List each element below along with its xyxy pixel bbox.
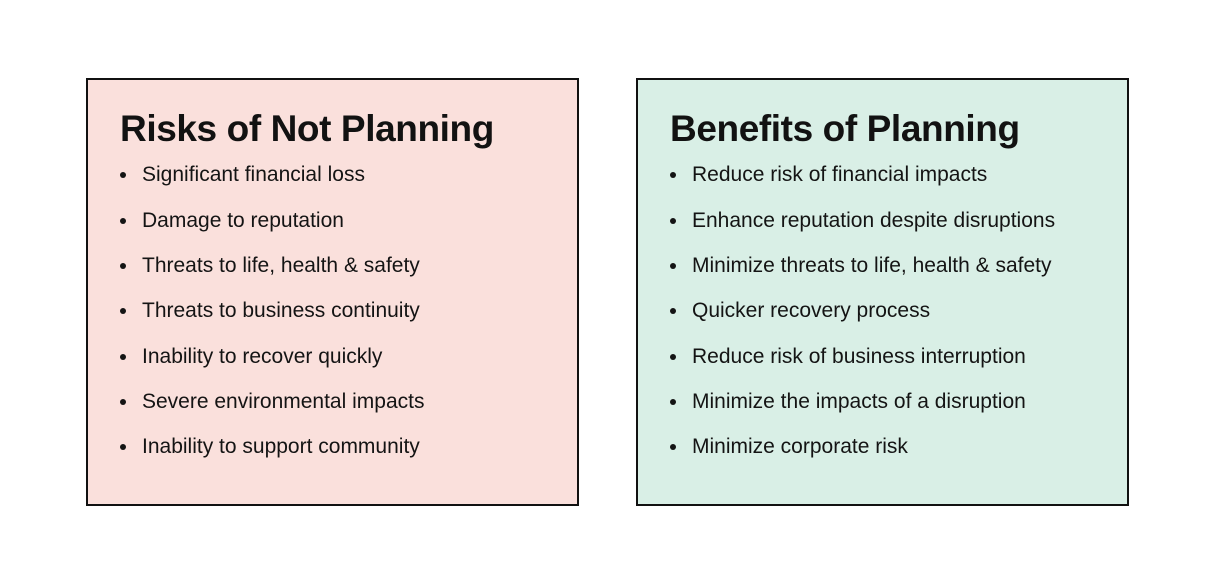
list-item-label: Inability to support community: [142, 435, 420, 458]
list-item-label: Inability to recover quickly: [142, 345, 382, 368]
bullet-dot-icon: [670, 444, 676, 450]
risks-panel: Risks of Not Planning Significant financ…: [86, 78, 579, 506]
bullet-dot-icon: [120, 263, 126, 269]
list-item: Quicker recovery process: [670, 299, 1107, 324]
list-item: Reduce risk of business interruption: [670, 345, 1107, 370]
list-item-label: Minimize threats to life, health & safet…: [692, 254, 1052, 277]
list-item: Severe environmental impacts: [120, 390, 557, 415]
bullet-dot-icon: [120, 172, 126, 178]
bullet-dot-icon: [120, 399, 126, 405]
bullet-dot-icon: [670, 354, 676, 360]
list-item-label: Threats to life, health & safety: [142, 254, 420, 277]
benefits-list: Reduce risk of financial impacts Enhance…: [670, 163, 1107, 459]
bullet-dot-icon: [670, 218, 676, 224]
list-item-label: Threats to business continuity: [142, 299, 420, 322]
list-item: Inability to support community: [120, 435, 557, 460]
benefits-panel-title: Benefits of Planning: [670, 108, 1107, 149]
list-item: Threats to business continuity: [120, 299, 557, 324]
list-item: Damage to reputation: [120, 209, 557, 234]
bullet-dot-icon: [670, 263, 676, 269]
list-item: Enhance reputation despite disruptions: [670, 209, 1107, 234]
list-item-label: Minimize corporate risk: [692, 435, 908, 458]
bullet-dot-icon: [670, 399, 676, 405]
list-item: Inability to recover quickly: [120, 345, 557, 370]
list-item-label: Reduce risk of financial impacts: [692, 163, 987, 186]
list-item-label: Minimize the impacts of a disruption: [692, 390, 1026, 413]
list-item-label: Significant financial loss: [142, 163, 365, 186]
list-item: Minimize corporate risk: [670, 435, 1107, 460]
list-item: Significant financial loss: [120, 163, 557, 188]
list-item-label: Enhance reputation despite disruptions: [692, 209, 1055, 232]
bullet-dot-icon: [120, 308, 126, 314]
list-item-label: Severe environmental impacts: [142, 390, 424, 413]
list-item-label: Reduce risk of business interruption: [692, 345, 1026, 368]
list-item: Minimize the impacts of a disruption: [670, 390, 1107, 415]
bullet-dot-icon: [120, 354, 126, 360]
bullet-dot-icon: [120, 444, 126, 450]
list-item: Minimize threats to life, health & safet…: [670, 254, 1107, 279]
benefits-panel: Benefits of Planning Reduce risk of fina…: [636, 78, 1129, 506]
list-item: Threats to life, health & safety: [120, 254, 557, 279]
list-item-label: Damage to reputation: [142, 209, 344, 232]
bullet-dot-icon: [670, 172, 676, 178]
bullet-dot-icon: [120, 218, 126, 224]
list-item: Reduce risk of financial impacts: [670, 163, 1107, 188]
comparison-board: Risks of Not Planning Significant financ…: [0, 0, 1216, 586]
risks-panel-title: Risks of Not Planning: [120, 108, 557, 149]
list-item-label: Quicker recovery process: [692, 299, 930, 322]
risks-list: Significant financial loss Damage to rep…: [120, 163, 557, 459]
bullet-dot-icon: [670, 308, 676, 314]
